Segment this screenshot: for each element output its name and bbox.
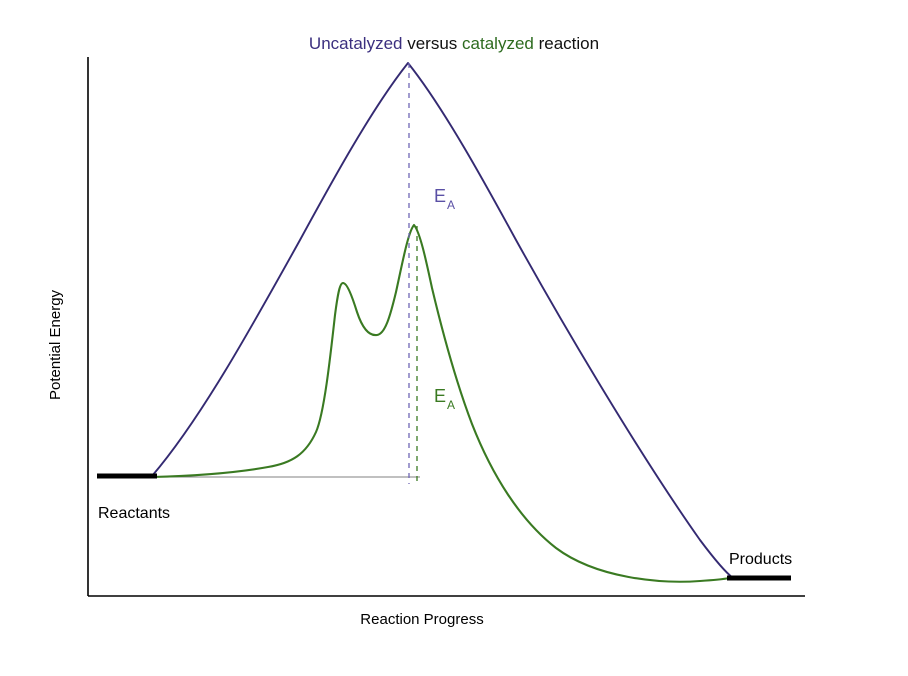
activation-energy-catalyzed-label: E A [434, 386, 455, 412]
y-axis-label: Potential Energy [47, 289, 64, 400]
ea-uncatalyzed-subscript: A [447, 198, 455, 212]
uncatalyzed-curve [152, 63, 733, 578]
ea-catalyzed-subscript: A [447, 398, 455, 412]
axes [88, 57, 805, 596]
x-axis-label: Reaction Progress [360, 611, 483, 628]
ea-uncatalyzed-symbol: E [434, 186, 446, 206]
reactants-label: Reactants [98, 505, 170, 522]
title-part-catalyzed: catalyzed [462, 34, 534, 53]
products-label: Products [729, 551, 792, 568]
title-part-reaction: reaction [539, 34, 599, 53]
ea-catalyzed-symbol: E [434, 386, 446, 406]
title-part-versus: versus [407, 34, 457, 53]
reaction-coordinate-diagram: Uncatalyzed versus catalyzed reaction Po… [0, 0, 908, 671]
activation-energy-uncatalyzed-label: E A [434, 186, 455, 212]
chart-title: Uncatalyzed versus catalyzed reaction [309, 34, 599, 53]
title-part-uncatalyzed: Uncatalyzed [309, 34, 403, 53]
svg-text:Uncatalyzed versus catalyzed r: Uncatalyzed versus catalyzed reaction [309, 34, 599, 53]
chart-svg: Uncatalyzed versus catalyzed reaction Po… [0, 0, 908, 671]
